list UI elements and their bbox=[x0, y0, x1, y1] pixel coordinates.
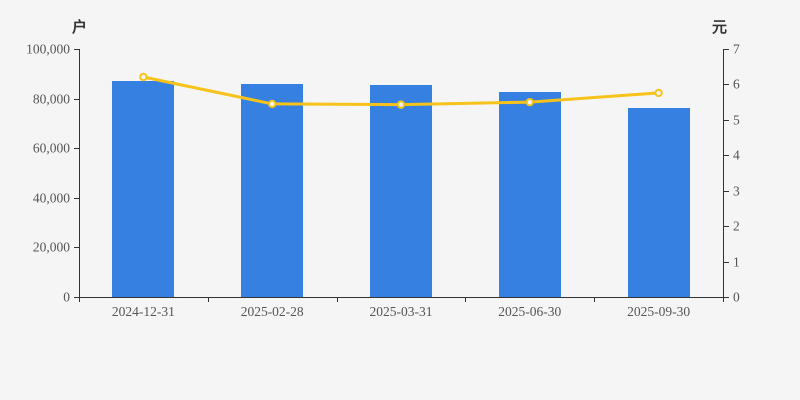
right-axis-tick bbox=[724, 49, 729, 50]
x-axis-tick bbox=[465, 297, 466, 302]
left-axis-tick-label: 40,000 bbox=[33, 191, 70, 205]
left-axis-tick-label: 100,000 bbox=[26, 42, 70, 56]
right-axis-tick bbox=[724, 262, 729, 263]
bar[interactable] bbox=[241, 84, 303, 297]
x-axis-tick bbox=[723, 297, 724, 302]
chart-container: 户 元 020,00040,00060,00080,000100,000 012… bbox=[0, 0, 800, 400]
x-axis-tick bbox=[337, 297, 338, 302]
right-axis-tick-label: 4 bbox=[733, 149, 740, 163]
right-axis-unit-label: 元 bbox=[712, 20, 727, 35]
bar[interactable] bbox=[112, 81, 174, 297]
x-axis-label: 2024-12-31 bbox=[112, 305, 175, 319]
left-axis-unit-label: 户 bbox=[72, 20, 87, 35]
bar[interactable] bbox=[628, 108, 690, 297]
x-axis-label: 2025-02-28 bbox=[241, 305, 304, 319]
x-axis-label: 2025-03-31 bbox=[370, 305, 433, 319]
left-axis-tick-label: 0 bbox=[63, 290, 70, 304]
right-axis-tick bbox=[724, 191, 729, 192]
right-axis-tick bbox=[724, 84, 729, 85]
x-axis-tick bbox=[208, 297, 209, 302]
right-axis-tick-label: 1 bbox=[733, 255, 740, 269]
left-axis-tick bbox=[74, 99, 79, 100]
left-axis-tick-label: 60,000 bbox=[33, 141, 70, 155]
left-axis-tick bbox=[74, 148, 79, 149]
left-axis-line bbox=[79, 49, 80, 298]
x-axis-tick bbox=[594, 297, 595, 302]
x-axis-tick bbox=[79, 297, 80, 302]
bar[interactable] bbox=[370, 85, 432, 297]
right-axis-tick-label: 2 bbox=[733, 219, 740, 233]
right-axis-tick bbox=[724, 297, 729, 298]
left-axis-tick-label: 20,000 bbox=[33, 241, 70, 255]
right-axis-tick-label: 3 bbox=[733, 184, 740, 198]
left-axis-tick-label: 80,000 bbox=[33, 92, 70, 106]
right-axis-tick-label: 6 bbox=[733, 78, 740, 92]
left-axis-tick bbox=[74, 49, 79, 50]
line-marker[interactable]: 2025-09-30: 5.76 bbox=[655, 90, 661, 96]
x-axis-label: 2025-06-30 bbox=[498, 305, 561, 319]
x-axis-label: 2025-09-30 bbox=[627, 305, 690, 319]
x-axis-line bbox=[79, 297, 724, 298]
right-axis-tick bbox=[724, 226, 729, 227]
right-axis-tick-label: 0 bbox=[733, 290, 740, 304]
left-axis-tick bbox=[74, 247, 79, 248]
right-axis-tick-label: 7 bbox=[733, 42, 740, 56]
right-axis-tick-label: 5 bbox=[733, 113, 740, 127]
right-axis-tick bbox=[724, 155, 729, 156]
bar[interactable] bbox=[499, 92, 561, 297]
line-marker[interactable]: 2024-12-31: 6.21 bbox=[140, 74, 146, 80]
left-axis-tick bbox=[74, 198, 79, 199]
right-axis-tick bbox=[724, 120, 729, 121]
